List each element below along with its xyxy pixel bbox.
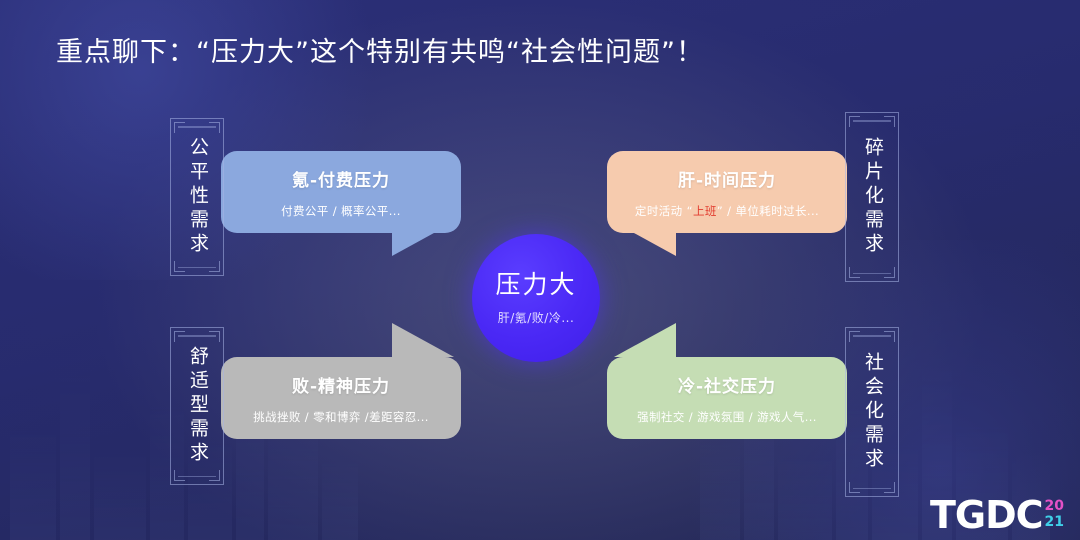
card-gan-title: 肝-时间压力 (678, 166, 776, 191)
tgdc-logo-year: 20 21 (1045, 498, 1064, 530)
needs-label-socialization: 社会化需求 (845, 327, 899, 497)
center-node-pressure[interactable]: 压力大 肝/氪/败/冷... (472, 234, 600, 362)
card-len-title: 冷-社交压力 (678, 372, 776, 397)
ornament-bar (853, 120, 891, 122)
tgdc-logo-year-bottom: 21 (1045, 514, 1064, 530)
needs-label-fairness-text: 公平性需求 (187, 137, 207, 257)
needs-label-socialization-text: 社会化需求 (862, 352, 882, 472)
ornament-bar (853, 273, 891, 275)
bubble-tail-len (614, 323, 676, 357)
tgdc-logo-year-top: 20 (1045, 498, 1064, 514)
ornament-corner-icon (174, 331, 185, 342)
ornament-corner-icon (849, 116, 860, 127)
card-social-pressure[interactable]: 冷-社交压力 强制社交 / 游戏氛围 / 游戏人气... (607, 357, 847, 439)
page-title: 重点聊下：“压力大”这个特别有共鸣“社会性问题”！ (56, 33, 704, 73)
ornament-bar (853, 335, 891, 337)
card-gan-desc: 定时活动 “上班” / 单位耗时过长... (635, 203, 819, 219)
ornament-bar (178, 476, 216, 478)
card-payment-pressure[interactable]: 氪-付费压力 付费公平 / 概率公平... (221, 151, 461, 233)
ornament-bar (178, 126, 216, 128)
ornament-corner-icon (209, 122, 220, 133)
ornament-corner-icon (174, 122, 185, 133)
card-bai-title: 败-精神压力 (292, 372, 390, 397)
needs-label-fragmented: 碎片化需求 (845, 112, 899, 282)
card-kr-desc: 付费公平 / 概率公平... (281, 203, 401, 219)
ornament-corner-icon (884, 331, 895, 342)
needs-label-fragmented-text: 碎片化需求 (862, 137, 882, 257)
card-time-pressure[interactable]: 肝-时间压力 定时活动 “上班” / 单位耗时过长... (607, 151, 847, 233)
tgdc-logo: TGDC 20 21 (930, 496, 1064, 534)
ornament-corner-icon (884, 116, 895, 127)
center-label: 压力大 (495, 270, 576, 300)
card-bai-desc: 挑战挫败 / 零和博弈 /差距容忍... (253, 409, 429, 425)
ornament-bar (178, 267, 216, 269)
card-len-desc: 强制社交 / 游戏氛围 / 游戏人气... (637, 409, 817, 425)
card-gan-desc-before: 定时活动 “ (635, 204, 693, 218)
card-gan-desc-highlight: 上班 (693, 204, 717, 219)
card-mental-pressure[interactable]: 败-精神压力 挑战挫败 / 零和博弈 /差距容忍... (221, 357, 461, 439)
center-sublabel: 肝/氪/败/冷... (498, 309, 575, 326)
ornament-corner-icon (209, 331, 220, 342)
needs-label-comfort: 舒适型需求 (170, 327, 224, 485)
needs-label-fairness: 公平性需求 (170, 118, 224, 276)
card-gan-desc-after: ” / 单位耗时过长... (717, 204, 819, 218)
ornament-corner-icon (849, 331, 860, 342)
slide-canvas: 重点聊下：“压力大”这个特别有共鸣“社会性问题”！ 氪-付费压力 付费公平 / … (0, 0, 1080, 540)
card-kr-title: 氪-付费压力 (292, 166, 390, 191)
ornament-bar (853, 488, 891, 490)
needs-label-comfort-text: 舒适型需求 (187, 346, 207, 466)
tgdc-logo-word: TGDC (930, 496, 1043, 534)
bubble-tail-bai (392, 323, 454, 357)
ornament-bar (178, 335, 216, 337)
